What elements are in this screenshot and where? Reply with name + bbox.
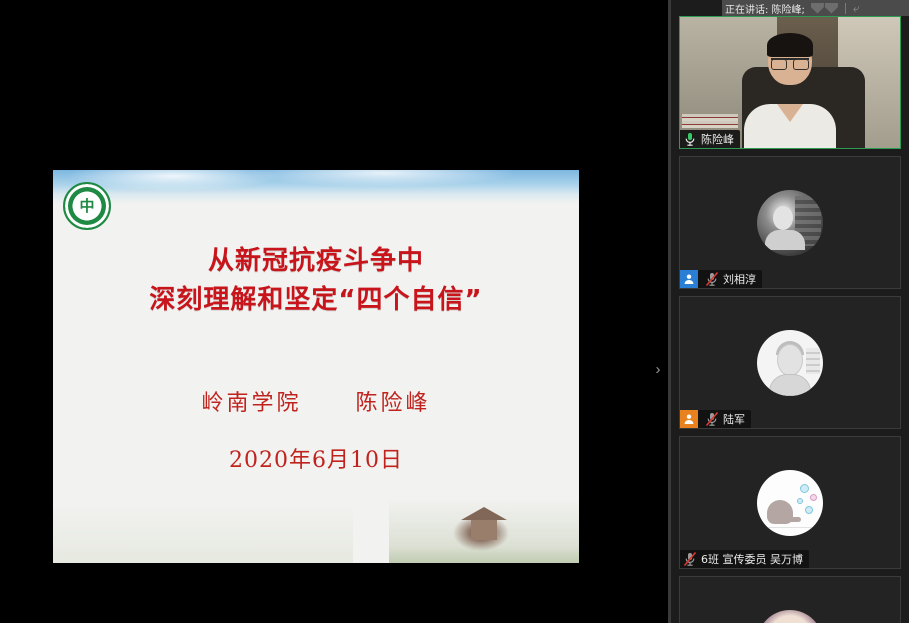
avatar-body <box>769 374 811 396</box>
participant-panel: 正在讲话: 陈险峰; ⤶ <box>668 0 909 623</box>
video-person-glasses <box>771 58 809 67</box>
avatar-bubble-icon <box>805 506 813 514</box>
participant-tile[interactable]: 6班 宣传委员 吴万博 <box>679 436 901 569</box>
slide-campus-photo <box>389 489 579 563</box>
slide-author-org: 岭南学院 <box>201 391 301 416</box>
slide-author-line: 岭南学院 陈险峰 <box>53 385 579 417</box>
avatar-bubble-icon <box>800 484 809 493</box>
participant-name-badge: 刘相淳 <box>680 270 762 288</box>
avatar-background <box>806 348 820 374</box>
avatar-bubble-icon <box>797 498 803 504</box>
participant-tile-list[interactable]: 陈险峰 <box>671 16 909 623</box>
avatar-container <box>680 297 900 428</box>
participant-tile[interactable]: 刘相淳 <box>679 156 901 289</box>
meeting-app: 中 从新冠抗疫斗争中 深刻理解和坚定“四个自信” 岭南学院 陈险峰 2020年6… <box>0 0 909 623</box>
participant-name-badge: 陆军 <box>680 410 751 428</box>
university-logo-icon: 中 <box>63 182 111 230</box>
avatar-floor <box>761 527 819 528</box>
participant-name-badge: 陈险峰 <box>680 130 740 148</box>
person-icon <box>680 270 698 288</box>
speaking-status-label: 正在讲话: 陈险峰; <box>725 1 805 16</box>
participant-name: 6班 宣传委员 吴万博 <box>701 551 803 567</box>
participant-tile[interactable] <box>679 576 901 623</box>
avatar-container <box>680 437 900 568</box>
person-icon <box>680 410 698 428</box>
speaking-status-bar: 正在讲话: 陈险峰; ⤶ <box>722 0 909 16</box>
shared-screen-stage[interactable]: 中 从新冠抗疫斗争中 深刻理解和坚定“四个自信” 岭南学院 陈险峰 2020年6… <box>0 0 668 623</box>
participant-name-badge: 6班 宣传委员 吴万博 <box>680 550 809 568</box>
slide-title-line-1: 从新冠抗疫斗争中 <box>208 246 424 276</box>
avatar <box>757 330 823 396</box>
pavilion-body <box>471 520 497 540</box>
collapse-panel-chevron-right-icon[interactable]: › <box>650 358 666 380</box>
slide-title: 从新冠抗疫斗争中 深刻理解和坚定“四个自信” <box>53 242 579 320</box>
avatar-container <box>680 157 900 288</box>
slide-author-name: 陈险峰 <box>356 391 431 416</box>
participant-tile[interactable]: 陆军 <box>679 296 901 429</box>
photo-pavilion-icon <box>461 507 507 543</box>
presentation-slide: 中 从新冠抗疫斗争中 深刻理解和坚定“四个自信” 岭南学院 陈险峰 2020年6… <box>53 170 579 563</box>
chevron-down-icon-group[interactable] <box>811 3 838 14</box>
avatar-container <box>680 577 900 623</box>
photo-grass <box>389 547 579 563</box>
microphone-muted-icon <box>683 551 697 567</box>
avatar-bubble-icon <box>810 494 817 501</box>
participant-name: 陈险峰 <box>701 131 734 147</box>
microphone-muted-icon <box>705 411 719 427</box>
avatar <box>757 190 823 256</box>
back-arrow-icon[interactable]: ⤶ <box>853 2 860 14</box>
avatar-elephant-trunk <box>789 517 801 522</box>
microphone-muted-icon <box>705 271 719 287</box>
video-bookshelf <box>682 114 738 128</box>
avatar <box>757 610 823 623</box>
slide-bottom-fade <box>53 503 353 563</box>
slide-sky-banner <box>53 170 579 204</box>
microphone-icon <box>683 131 697 147</box>
toolbar-divider <box>845 3 846 14</box>
video-person-hair <box>767 33 813 57</box>
pavilion-roof <box>461 507 507 520</box>
slide-title-line-2: 深刻理解和坚定“四个自信” <box>53 281 579 320</box>
avatar-face <box>773 206 793 230</box>
chevron-down-icon[interactable] <box>825 3 838 14</box>
participant-name: 刘相淳 <box>723 271 756 287</box>
university-logo-glyph: 中 <box>79 199 94 214</box>
participant-tile[interactable]: 陈险峰 <box>679 16 901 149</box>
slide-date: 2020年6月10日 <box>53 442 579 474</box>
avatar-face <box>777 344 803 376</box>
video-feed <box>680 17 900 148</box>
chevron-down-icon[interactable] <box>811 3 824 14</box>
avatar <box>757 470 823 536</box>
participant-name: 陆军 <box>723 411 745 427</box>
avatar-body <box>765 230 805 250</box>
